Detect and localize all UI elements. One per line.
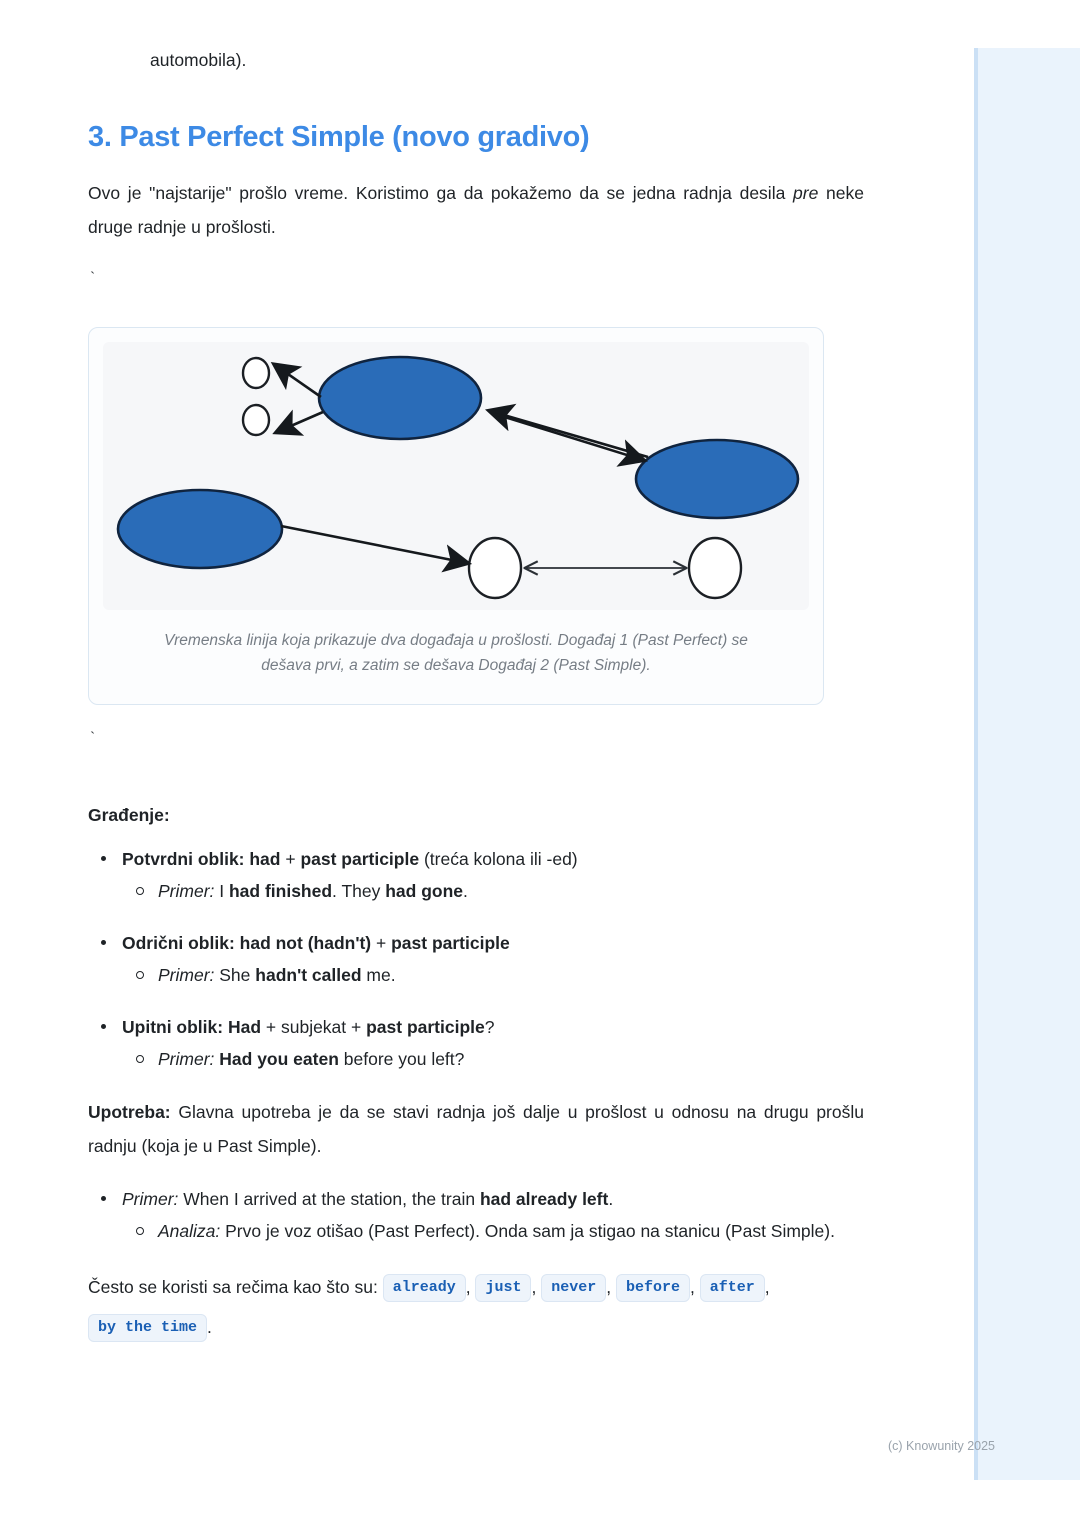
figure-card: Vremenska linija koja prikazuje dva doga… [88,327,824,705]
construction-sublist: Primer: Had you eaten before you left? [122,1044,864,1074]
right-side-panel [974,48,1080,1480]
arrow-to-second-left-circle [277,412,323,432]
example-bold: had already left [480,1189,608,1209]
big-circle-bottom-center-icon [469,538,521,598]
usage-paragraph: Upotreba: Glavna upotreba je da se stavi… [88,1096,864,1164]
example-part: Had you eaten [219,1049,339,1069]
example-part: I [214,881,229,901]
example-part: She [214,965,255,985]
small-circle-top-left-icon [243,358,269,388]
document-page: automobila). 3. Past Perfect Simple (nov… [0,0,952,1528]
example-part: . They [332,881,385,901]
construction-item-label: Potvrdni oblik: had [122,849,280,869]
page-title: 3. Past Perfect Simple (novo gradivo) [88,120,864,155]
analysis-label: Analiza: [158,1221,220,1241]
chip-terminator: . [207,1317,212,1337]
watermark: (c) Knowunity 2025 [888,1439,995,1453]
chip-separator: , [606,1277,611,1297]
construction-item-plus: + subjekat + [261,1017,366,1037]
usage-sublist: Analiza: Prvo je voz otišao (Past Perfec… [122,1216,864,1246]
code-chip-after[interactable]: after [700,1274,765,1302]
arrow-right-ellipse-to-center [490,411,648,457]
chip-separator: , [690,1277,695,1297]
timeline-diagram [103,342,809,610]
signal-words-lead-in: Često se koristi sa rečima kao što su: [88,1277,378,1297]
example-label: Primer: [158,1049,214,1069]
example-part: before you left? [339,1049,465,1069]
construction-item-label: Odrični oblik: had not (hadn't) [122,933,371,953]
construction-item-plus: + [371,933,391,953]
example-part: had finished [229,881,332,901]
example-part: me. [362,965,396,985]
list-item: Primer: When I arrived at the station, t… [88,1184,864,1246]
signal-words-paragraph: Često se koristi sa rečima kao što su: a… [88,1268,864,1347]
list-item: Primer: I had finished. They had gone. [122,876,864,906]
example-part: hadn't called [255,965,361,985]
construction-list: Potvrdni oblik: had + past participle (t… [88,844,864,1075]
big-circle-bottom-right-icon [689,538,741,598]
arrow-center-to-right-ellipse [495,414,643,460]
example-part: had gone [385,881,463,901]
intro-paragraph: Ovo je "najstarije" prošlo vreme. Korist… [88,177,864,245]
usage-list: Primer: When I arrived at the station, t… [88,1184,864,1246]
code-chip-just[interactable]: just [475,1274,531,1302]
list-item: Upitni oblik: Had + subjekat + past part… [88,1012,864,1074]
example-label: Primer: [122,1189,178,1209]
example-label: Primer: [158,881,214,901]
construction-item-tail: ? [485,1017,495,1037]
list-item: Potvrdni oblik: had + past participle (t… [88,844,864,906]
arrow-to-top-left-circle [275,365,321,397]
backtick-marker-bottom: ` [88,731,864,749]
figure-caption: Vremenska linija koja prikazuje dva doga… [103,610,809,694]
usage-text: Glavna upotreba je da se stavi radnja jo… [88,1102,864,1156]
continuation-line: automobila). [150,46,864,74]
small-circle-second-left-icon [243,405,269,435]
list-item: Odrični oblik: had not (hadn't) + past p… [88,928,864,990]
construction-sublist: Primer: She hadn't called me. [122,960,864,990]
analysis-text: Prvo je voz otišao (Past Perfect). Onda … [220,1221,835,1241]
construction-item-bold2: past participle [391,933,510,953]
blue-ellipse-top-center-icon [319,357,481,439]
construction-sublist: Primer: I had finished. They had gone. [122,876,864,906]
example-plain: When I arrived at the station, the train [178,1189,480,1209]
example-end: . [608,1189,613,1209]
chip-separator: , [531,1277,536,1297]
list-item: Primer: She hadn't called me. [122,960,864,990]
list-item: Primer: Had you eaten before you left? [122,1044,864,1074]
blue-ellipse-right-icon [636,440,798,518]
construction-item-plus: + [280,849,300,869]
timeline-diagram-svg [103,342,809,610]
construction-item-bold2: past participle [366,1017,485,1037]
example-part: . [463,881,468,901]
example-label: Primer: [158,965,214,985]
backtick-marker-top: ` [88,271,864,289]
usage-label: Upotreba: [88,1102,171,1122]
code-chip-before[interactable]: before [616,1274,690,1302]
chip-separator: , [765,1277,770,1297]
construction-item-bold2: past participle [300,849,419,869]
construction-item-label: Upitni oblik: Had [122,1017,261,1037]
intro-part1: Ovo je "najstarije" prošlo vreme. Korist… [88,183,793,203]
chip-separator: , [466,1277,471,1297]
construction-title: Građenje: [88,805,864,826]
intro-emphasis: pre [793,183,818,203]
arrow-bottom-left-to-circle [281,526,467,563]
code-chip-by-the-time[interactable]: by the time [88,1314,207,1342]
code-chip-never[interactable]: never [541,1274,606,1302]
construction-item-tail: (treća kolona ili -ed) [419,849,578,869]
list-item: Analiza: Prvo je voz otišao (Past Perfec… [122,1216,864,1246]
blue-ellipse-bottom-left-icon [118,490,282,568]
code-chip-already[interactable]: already [383,1274,466,1302]
